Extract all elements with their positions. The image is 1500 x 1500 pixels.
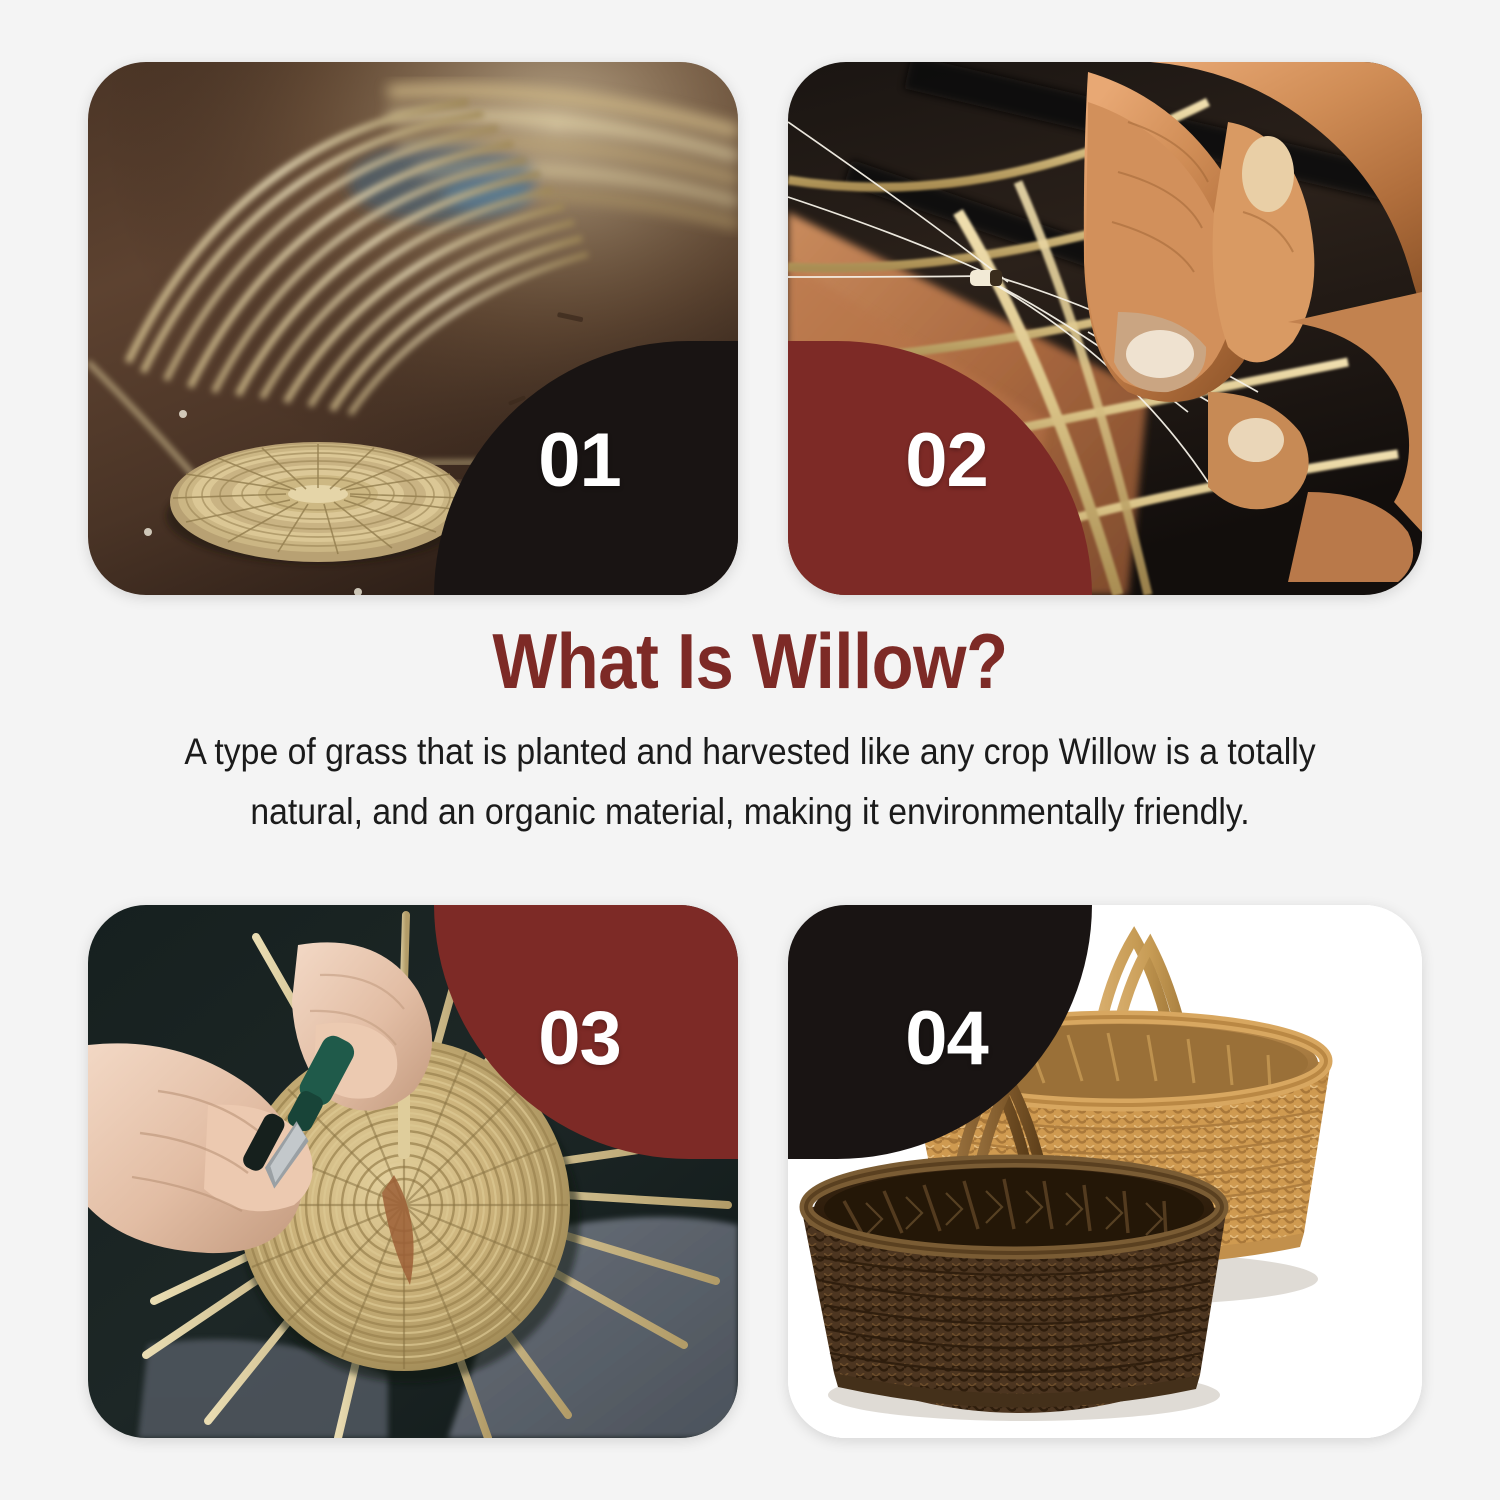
page-title: What Is Willow? xyxy=(143,620,1357,703)
text-block: What Is Willow? A type of grass that is … xyxy=(60,620,1440,842)
badge-number: 03 xyxy=(538,995,621,1082)
page-description: A type of grass that is planted and harv… xyxy=(129,721,1371,843)
card-01[interactable]: 01 xyxy=(88,62,738,595)
card-02[interactable]: 02 xyxy=(788,62,1422,595)
badge-number: 01 xyxy=(538,417,621,504)
card-03[interactable]: 03 xyxy=(88,905,738,1438)
badge-number: 02 xyxy=(905,417,988,504)
willow-infographic: 01 xyxy=(0,0,1500,1500)
card-04[interactable]: 04 xyxy=(788,905,1422,1438)
badge-number: 04 xyxy=(905,995,988,1082)
